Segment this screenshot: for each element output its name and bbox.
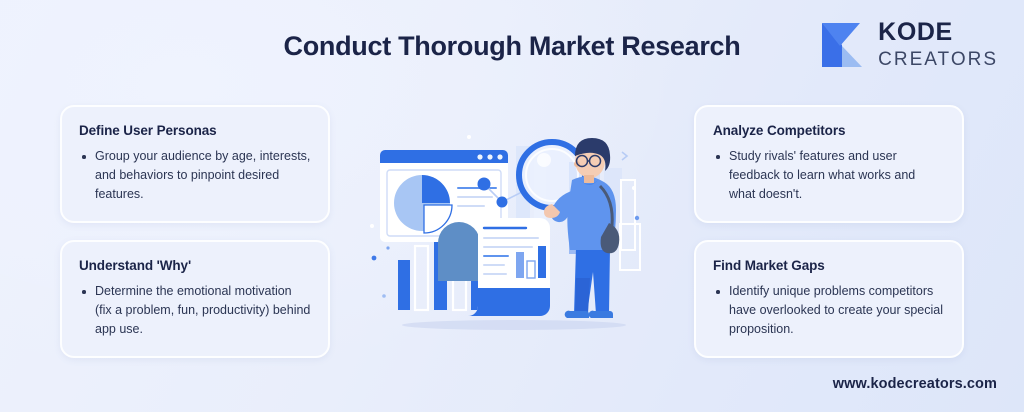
list-item: Identify unique problems competitors hav… xyxy=(713,282,945,339)
card-title: Analyze Competitors xyxy=(713,123,945,138)
card-title: Understand 'Why' xyxy=(79,258,311,273)
info-card-find-market-gaps: Find Market Gaps Identify unique problem… xyxy=(694,240,964,358)
list-item: Determine the emotional motivation (fix … xyxy=(79,282,311,339)
card-bullet-list: Determine the emotional motivation (fix … xyxy=(79,282,311,339)
brand-logo: KODE CREATORS xyxy=(820,20,998,69)
market-research-illustration xyxy=(366,128,656,348)
document-scroll-report xyxy=(468,218,550,316)
info-card-analyze-competitors: Analyze Competitors Study rivals' featur… xyxy=(694,105,964,223)
ground-shadow xyxy=(402,320,626,330)
list-item: Group your audience by age, interests, a… xyxy=(79,147,311,204)
website-url: www.kodecreators.com xyxy=(833,376,997,392)
dome-shape xyxy=(438,222,480,281)
window-dot-2 xyxy=(487,154,492,159)
window-dot-1 xyxy=(477,154,482,159)
card-bullet-list: Group your audience by age, interests, a… xyxy=(79,147,311,204)
brand-name-primary: KODE xyxy=(878,20,998,45)
window-dot-3 xyxy=(497,154,502,159)
info-card-define-user-personas: Define User Personas Group your audience… xyxy=(60,105,330,223)
infographic-page: Conduct Thorough Market Research KODE CR… xyxy=(0,0,1024,412)
card-title: Define User Personas xyxy=(79,123,311,138)
kode-k-logo-icon xyxy=(820,21,866,69)
card-title: Find Market Gaps xyxy=(713,258,945,273)
card-bullet-list: Study rivals' features and user feedback… xyxy=(713,147,945,204)
info-card-understand-why: Understand 'Why' Determine the emotional… xyxy=(60,240,330,358)
list-item: Study rivals' features and user feedback… xyxy=(713,147,945,204)
brand-name-secondary: CREATORS xyxy=(878,50,998,69)
card-bullet-list: Identify unique problems competitors hav… xyxy=(713,282,945,339)
brand-wordmark: KODE CREATORS xyxy=(878,20,998,69)
